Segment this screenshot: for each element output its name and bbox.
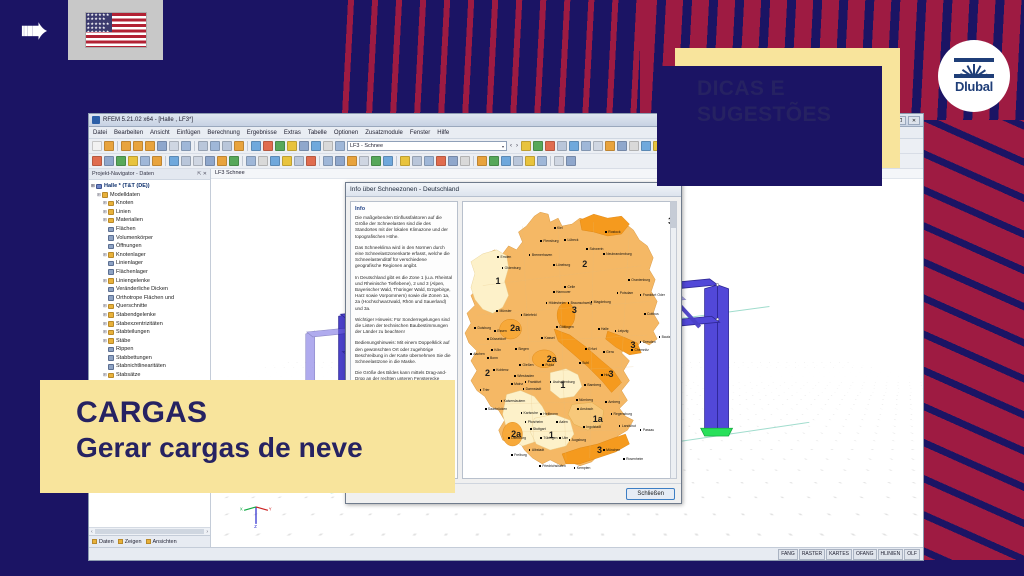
dialog-title-bar: Info über Schneezonen - Deutschland	[346, 183, 681, 197]
toolbar-icon-5[interactable]	[145, 141, 155, 151]
toolbar-icon-10[interactable]	[210, 141, 220, 151]
toolbar-icon-b2[interactable]	[533, 141, 543, 151]
map-city-label[interactable]: Hannover	[556, 290, 571, 294]
arrow-down-right-badge: ➠	[0, 0, 68, 60]
toolbar2-icon-29[interactable]	[448, 156, 458, 166]
toolbar2-icon-13[interactable]	[246, 156, 256, 166]
navigator-item[interactable]: ⊞Stabendgelenke	[91, 311, 210, 320]
map-city-label[interactable]: Bamberg	[587, 383, 601, 387]
navigator-item[interactable]: ⊞Materialien	[91, 216, 210, 225]
toolbar2-icon-36[interactable]	[537, 156, 547, 166]
toolbar2-icon-30[interactable]	[460, 156, 470, 166]
map-city-label[interactable]: Cottbus	[647, 312, 659, 316]
map-city-label[interactable]: Düsseldorf	[490, 337, 506, 341]
menu-item-einfgen[interactable]: Einfügen	[177, 130, 201, 136]
status-toggle-kartes[interactable]: KARTES	[826, 549, 852, 560]
toolbar-separator	[247, 141, 248, 151]
toolbar2-icon-35[interactable]	[525, 156, 535, 166]
map-city-label[interactable]: Erfurt	[588, 347, 596, 351]
dialog-title-text: Info über Schneezonen - Deutschland	[350, 186, 459, 193]
menu-item-datei[interactable]: Datei	[93, 130, 107, 136]
navigator-item[interactable]: Stabnichtlinearitäten	[91, 362, 210, 371]
status-toggle-raster[interactable]: RASTER	[799, 549, 825, 560]
toolbar-icon-b8[interactable]	[605, 141, 615, 151]
map-city-label[interactable]: Lüneburg	[556, 263, 570, 267]
toolbar-icon-12[interactable]	[234, 141, 244, 151]
map-city-label[interactable]: Neubrandenburg	[606, 252, 631, 256]
status-toggle-ofang[interactable]: OFANG	[853, 549, 877, 560]
toolbar-separator	[165, 156, 166, 166]
map-city-label[interactable]: Magdeburg	[594, 300, 611, 304]
toolbar-icon-b10[interactable]	[629, 141, 639, 151]
map-city-label[interactable]: Bremerhaven	[532, 253, 552, 257]
tree-node-icon	[108, 304, 114, 310]
map-city-label[interactable]: Oranienburg	[631, 278, 650, 282]
navigator-item-label: Materialien	[116, 216, 143, 225]
tab-icon	[92, 539, 97, 544]
tree-node-icon	[108, 278, 114, 284]
toolbar-separator	[319, 156, 320, 166]
navigator-item[interactable]: ⊞Stabteilungen	[91, 328, 210, 337]
toolbar2-icon-7[interactable]	[169, 156, 179, 166]
toolbar2-icon-9[interactable]	[193, 156, 203, 166]
toolbar2-icon-23[interactable]	[371, 156, 381, 166]
toolbar-icon-b11[interactable]	[641, 141, 651, 151]
navigator-tab-ansichten[interactable]: Ansichten	[146, 539, 177, 545]
navigator-tab-label: Ansichten	[153, 539, 177, 545]
toolbar-icon-16[interactable]	[287, 141, 297, 151]
info-paragraph: Bedienungshinweis: Mit einem Doppelklick…	[355, 340, 453, 365]
toolbar-icon-18[interactable]	[311, 141, 321, 151]
toolbar-icon-11[interactable]	[222, 141, 232, 151]
navigator-item[interactable]: ⊞Linien	[91, 208, 210, 217]
map-city-label[interactable]: Ansbach	[580, 407, 593, 411]
map-city-label[interactable]: Celle	[567, 285, 575, 289]
navigator-tab-zeigen[interactable]: Zeigen	[118, 539, 142, 545]
map-city-label[interactable]: Hildesheim	[549, 301, 566, 305]
map-city-label[interactable]: Rosenheim	[626, 457, 643, 461]
map-city-label[interactable]: Pforzheim	[528, 420, 543, 424]
navigator-item-label: Querschnitte	[116, 302, 147, 311]
map-city-label[interactable]: Friedrichshafen	[542, 464, 565, 468]
tree-node-icon	[108, 355, 114, 361]
callout-tips-line1: DICAS E	[697, 76, 900, 102]
tree-node-icon	[108, 364, 114, 370]
tree-node-icon	[108, 209, 114, 215]
navigator-title: Projekt-Navigator - Daten	[92, 171, 154, 177]
map-zone-label[interactable]: 3	[630, 340, 635, 350]
load-case-value: LF3 - Schnee	[350, 142, 383, 151]
map-city-label[interactable]: Bielefeld	[524, 313, 537, 317]
menu-item-fenster[interactable]: Fenster	[410, 130, 430, 136]
map-city-label[interactable]: Trier	[483, 388, 490, 392]
map-zone-label[interactable]: 1a	[593, 414, 603, 424]
toolbar-icon-15[interactable]	[275, 141, 285, 151]
toolbar-icon-b6[interactable]	[581, 141, 591, 151]
callout-tips: DICAS E SUGESTÕES	[675, 48, 900, 168]
tree-node-icon	[102, 192, 108, 198]
info-paragraph: Die maßgebenden Einflussfaktoren auf die…	[355, 215, 453, 240]
toolbar2-icon-33[interactable]	[501, 156, 511, 166]
map-city-label[interactable]: Kassel	[544, 336, 554, 340]
svg-text:X: X	[240, 506, 243, 511]
navigator-item-label: Orthotrope Flächen und	[116, 294, 174, 303]
navigator-item-label: Stäbe	[116, 337, 130, 346]
menu-item-ansicht[interactable]: Ansicht	[150, 130, 170, 136]
navigator-tab-daten[interactable]: Daten	[92, 539, 114, 545]
toolbar2-icon-28[interactable]	[436, 156, 446, 166]
navigator-item[interactable]: Flächen	[91, 225, 210, 234]
toolbar2-icon-11[interactable]	[217, 156, 227, 166]
callout-loads: CARGAS Gerar cargas de neve	[40, 380, 455, 493]
toolbar2-icon-15[interactable]	[270, 156, 280, 166]
tab-icon	[118, 539, 123, 544]
navigator-item-label: Linien	[116, 208, 131, 217]
status-toggle-group[interactable]: FANGRASTERKARTESOFANGHLINIENOLF	[778, 549, 920, 560]
toolbar-icon-17[interactable]	[299, 141, 309, 151]
close-button[interactable]: ✕	[908, 116, 920, 125]
map-zone-label[interactable]: 2a	[547, 354, 557, 364]
tree-node-icon	[108, 373, 114, 379]
navigator-header: Projekt-Navigator - Daten ⇱ ✕	[89, 169, 210, 180]
map-city-label[interactable]: Aachen	[473, 352, 485, 356]
map-city-label[interactable]: Dresden	[643, 340, 656, 344]
navigator-item[interactable]: ⊞Knoten	[91, 199, 210, 208]
navigator-item[interactable]: ⊞Stabexzentrizitäten	[91, 320, 210, 329]
map-city-label[interactable]: Freiburg	[514, 453, 527, 457]
language-flag-badge: ★★★★★★★★★★★★★★★★★★★★★★★★★★★★	[68, 0, 163, 60]
map-zone-label[interactable]: 1	[495, 276, 500, 286]
toolbar2-icon-32[interactable]	[489, 156, 499, 166]
map-city-label[interactable]: Wiesbaden	[517, 374, 534, 378]
navigator-item-label: Stabexzentrizitäten	[116, 320, 163, 329]
germany-snow-zone-map[interactable]: KielLübeckRostockFlensburgSchwerinNeubra…	[462, 201, 677, 479]
navigator-item[interactable]: ⊞Liniengelenke	[91, 277, 210, 286]
toolbar-icon-b3[interactable]	[545, 141, 555, 151]
coordinate-axis-indicator: Z X Y	[239, 495, 273, 529]
map-city-label[interactable]: Münster	[499, 309, 511, 313]
slide-canvas: ➠ ★★★★★★★★★★★★★★★★★★★★★★★★★★★★ Dlubal RF…	[0, 0, 1024, 576]
menu-item-hilfe[interactable]: Hilfe	[437, 130, 449, 136]
navigator-item-label: Stabsätze	[116, 371, 140, 380]
toolbar-icon-b5[interactable]	[569, 141, 579, 151]
navigator-item-label: Flächen	[116, 225, 136, 234]
map-city-label[interactable]: Karlsruhe	[524, 411, 539, 415]
map-city-label[interactable]: Köln	[494, 348, 501, 352]
map-city-label[interactable]: Darmstadt	[526, 387, 542, 391]
toolbar2-icon-5[interactable]	[140, 156, 150, 166]
navigator-item-label: Stabbettungen	[116, 354, 152, 363]
map-city-label[interactable]: Chemnitz	[634, 348, 648, 352]
menu-item-extras[interactable]: Extras	[284, 130, 301, 136]
map-city-label[interactable]: Heilbronn	[543, 412, 558, 416]
toolbar2-icon-27[interactable]	[424, 156, 434, 166]
toolbar2-icon-4[interactable]	[128, 156, 138, 166]
flag-stars: ★★★★★★★★★★★★★★★★★★★★★★★★★★★★	[86, 13, 112, 32]
prev-loadcase-icon[interactable]: ‹	[509, 143, 513, 149]
map-city-label[interactable]: Bonn	[490, 356, 498, 360]
tree-node-icon	[108, 269, 114, 275]
navigator-item[interactable]: Veränderliche Dicken	[91, 285, 210, 294]
map-zone-label[interactable]: 3	[597, 445, 602, 455]
map-city-label[interactable]: München	[606, 448, 620, 452]
map-city-label[interactable]: Göttingen	[559, 325, 574, 329]
map-zone-label[interactable]: 2	[485, 368, 490, 378]
toolbar2-icon-3[interactable]	[116, 156, 126, 166]
tree-node-icon	[108, 261, 114, 267]
navigator-item-label: Volumenkörper	[116, 234, 153, 243]
map-zone-label[interactable]: 3	[572, 305, 577, 315]
toolbar2-icon-1[interactable]	[92, 156, 102, 166]
toolbar2-icon-2[interactable]	[104, 156, 114, 166]
load-case-combobox[interactable]: LF3 - Schnee▾	[347, 141, 507, 151]
navigator-item[interactable]: ⊞Halle * (T&T (DE))	[91, 182, 210, 191]
dlubal-logo-text: Dlubal	[955, 79, 993, 94]
navigator-item-label: Linienlager	[116, 259, 143, 268]
tree-node-icon	[108, 321, 114, 327]
navigator-item[interactable]: ⊞Knotenlager	[91, 251, 210, 260]
tree-node-icon	[108, 201, 114, 207]
map-city-label[interactable]: Passau	[643, 428, 654, 432]
navigator-item[interactable]: Stabbettungen	[91, 354, 210, 363]
callout-tips-line2: SUGESTÕES	[697, 102, 900, 128]
toolbar2-icon-17[interactable]	[294, 156, 304, 166]
toolbar-icon-14[interactable]	[263, 141, 273, 151]
toolbar-icon-9[interactable]	[198, 141, 208, 151]
map-city-label[interactable]: Halle	[601, 327, 609, 331]
map-city-label[interactable]: Koblenz	[496, 368, 508, 372]
navigator-item[interactable]: Orthotrope Flächen und	[91, 294, 210, 303]
dialog-scrollbar[interactable]	[670, 201, 677, 479]
navigator-item[interactable]: Flächenlager	[91, 268, 210, 277]
dlubal-truss-logo-icon	[954, 58, 994, 78]
toolbar-icon-1[interactable]	[92, 141, 102, 151]
toolbar2-icon-26[interactable]	[412, 156, 422, 166]
map-city-label[interactable]: Rostock	[608, 230, 620, 234]
map-city-label[interactable]: Siegen	[518, 347, 529, 351]
navigator-item-label: Rippen	[116, 345, 133, 354]
navigator-item-label: Knoten	[116, 199, 133, 208]
map-city-label[interactable]: Suhl	[582, 361, 589, 365]
tree-node-icon	[108, 235, 114, 241]
map-city-label[interactable]: Nürnberg	[579, 398, 593, 402]
toolbar2-icon-14[interactable]	[258, 156, 268, 166]
toolbar-icon-b4[interactable]	[557, 141, 567, 151]
map-city-label[interactable]: Mainz	[514, 382, 523, 386]
map-zone-label[interactable]: 1	[560, 380, 565, 390]
scroll-left-icon[interactable]: ‹	[91, 529, 93, 535]
arrow-down-right-icon: ➠	[21, 14, 48, 46]
toolbar-separator	[396, 156, 397, 166]
map-city-label[interactable]: Gießen	[522, 363, 533, 367]
map-city-label[interactable]: Potsdam	[620, 291, 633, 295]
map-city-label[interactable]: Lübeck	[567, 238, 578, 242]
scroll-thumb[interactable]	[95, 529, 205, 534]
toolbar2-icon-34[interactable]	[513, 156, 523, 166]
toolbar-icon-2[interactable]	[104, 141, 114, 151]
tree-node-icon	[108, 330, 114, 336]
navigator-horizontal-scrollbar[interactable]: ‹ ›	[89, 527, 210, 535]
menu-item-ergebnisse[interactable]: Ergebnisse	[247, 130, 277, 136]
tree-node-icon	[108, 244, 114, 250]
toolbar2-icon-21[interactable]	[347, 156, 357, 166]
toolbar-icon-13[interactable]	[251, 141, 261, 151]
toolbar2-icon-8[interactable]	[181, 156, 191, 166]
toolbar2-icon-38[interactable]	[566, 156, 576, 166]
map-city-label[interactable]: Gera	[606, 350, 614, 354]
navigator-item[interactable]: Rippen	[91, 345, 210, 354]
map-city-label[interactable]: Saarbrücken	[488, 407, 507, 411]
toolbar2-icon-20[interactable]	[335, 156, 345, 166]
toolbar2-icon-18[interactable]	[306, 156, 316, 166]
tree-node-icon	[108, 227, 114, 233]
toolbar-icon-7[interactable]	[169, 141, 179, 151]
toolbar-separator	[550, 156, 551, 166]
map-city-label[interactable]: Oldenburg	[505, 266, 521, 270]
map-city-label[interactable]: Frankfurt Oder	[643, 293, 665, 297]
map-city-label[interactable]: Essen	[497, 329, 506, 333]
map-city-label[interactable]: Stuttgart	[533, 427, 546, 431]
navigator-item[interactable]: ⊞Stabsätze	[91, 371, 210, 380]
toolbar2-icon-22[interactable]	[359, 156, 369, 166]
toolbar2-icon-31[interactable]	[477, 156, 487, 166]
us-flag-icon: ★★★★★★★★★★★★★★★★★★★★★★★★★★★★	[85, 12, 147, 48]
toolbar-icon-b1[interactable]	[521, 141, 531, 151]
toolbar-icon-20[interactable]	[335, 141, 345, 151]
menu-item-zusatzmodule[interactable]: Zusatzmodule	[365, 130, 403, 136]
navigator-item[interactable]: ⊞Stäbe	[91, 337, 210, 346]
toolbar-icon-3[interactable]	[121, 141, 131, 151]
dialog-scroll-thumb[interactable]	[671, 202, 676, 228]
map-city-label[interactable]: Kempten	[577, 466, 591, 470]
callout-loads-subtitle: Gerar cargas de neve	[76, 431, 455, 465]
navigator-item-label: Stabteilungen	[116, 328, 150, 337]
toolbar-icon-b7[interactable]	[593, 141, 603, 151]
map-city-label[interactable]: Frankfurt	[528, 380, 542, 384]
toolbar2-icon-24[interactable]	[383, 156, 393, 166]
toolbar2-icon-37[interactable]	[554, 156, 564, 166]
pin-icon[interactable]: ⇱ ✕	[197, 171, 207, 177]
navigator-tab-label: Daten	[99, 539, 114, 545]
navigator-item-label: Knotenlager	[116, 251, 146, 260]
status-toggle-olf[interactable]: OLF	[904, 549, 920, 560]
background-navy-bottom-strip	[0, 560, 1024, 576]
tree-node-icon	[108, 338, 114, 344]
toolbar-icon-b9[interactable]	[617, 141, 627, 151]
chevron-down-icon[interactable]: ▾	[502, 142, 504, 151]
toolbar2-icon-19[interactable]	[323, 156, 333, 166]
toolbar-separator	[117, 141, 118, 151]
tree-node-icon	[108, 252, 114, 258]
info-heading: Info	[355, 206, 453, 212]
tree-node-icon	[96, 184, 102, 190]
navigator-item[interactable]: Volumenkörper	[91, 234, 210, 243]
navigator-item[interactable]: Öffnungen	[91, 242, 210, 251]
menu-item-bearbeiten[interactable]: Bearbeiten	[114, 130, 143, 136]
navigator-item[interactable]: ⊞Modelldaten	[91, 191, 210, 200]
toolbar-icon-4[interactable]	[133, 141, 143, 151]
map-city-label[interactable]: Ingolstadt	[586, 425, 601, 429]
menu-item-tabelle[interactable]: Tabelle	[308, 130, 327, 136]
map-zone-label[interactable]: 1	[549, 430, 554, 440]
dlubal-logo: Dlubal	[938, 40, 1010, 112]
map-zone-label[interactable]: 2	[582, 259, 587, 269]
map-city-label[interactable]: Regensburg	[614, 412, 632, 416]
navigator-item-label: Veränderliche Dicken	[116, 285, 168, 294]
map-city-label[interactable]: Kiel	[557, 226, 563, 230]
info-paragraph: In Deutschland gibt es die Zone 1 (u.a. …	[355, 275, 453, 312]
toolbar2-icon-25[interactable]	[400, 156, 410, 166]
map-city-label[interactable]: Flensburg	[543, 239, 558, 243]
map-zone-label[interactable]: 3	[608, 369, 613, 379]
menu-item-berechnung[interactable]: Berechnung	[207, 130, 239, 136]
navigator-tab-label: Zeigen	[125, 539, 142, 545]
navigator-item-label: Liniengelenke	[116, 277, 150, 286]
menu-item-optionen[interactable]: Optionen	[334, 130, 358, 136]
toolbar-separator	[194, 141, 195, 151]
info-paragraph: Das Schneeklima wird in den Normen durch…	[355, 245, 453, 270]
rfem-app-icon	[92, 116, 100, 124]
map-city-label[interactable]: Aalen	[559, 420, 568, 424]
navigator-item-label: Flächenlager	[116, 268, 148, 277]
map-city-label[interactable]: Duisburg	[477, 326, 491, 330]
navigator-item-label: Stabnichtlinearitäten	[116, 362, 166, 371]
map-city-label[interactable]: Landshut	[622, 424, 636, 428]
svg-text:Y: Y	[269, 506, 272, 511]
tree-node-icon	[108, 347, 114, 353]
rfem-status-bar: FANGRASTERKARTESOFANGHLINIENOLF	[89, 547, 923, 560]
tree-node-icon	[108, 295, 114, 301]
close-dialog-button[interactable]: Schließen	[626, 488, 675, 500]
map-zone-label[interactable]: 2a	[510, 323, 520, 333]
next-loadcase-icon[interactable]: ›	[515, 143, 519, 149]
tree-node-icon	[108, 218, 114, 224]
svg-text:Z: Z	[254, 524, 257, 529]
toolbar-separator	[473, 156, 474, 166]
navigator-item-label: Stabendgelenke	[116, 311, 156, 320]
info-paragraph: Wichtiger Hinweis: Für Sonderregelungen …	[355, 317, 453, 336]
toolbar2-icon-16[interactable]	[282, 156, 292, 166]
status-toggle-fang[interactable]: FANG	[778, 549, 798, 560]
toolbar-separator	[242, 156, 243, 166]
map-city-label[interactable]: Augsburg	[572, 438, 587, 442]
navigator-item-label: Halle * (T&T (DE))	[104, 182, 150, 191]
navigator-item-label: Modelldaten	[110, 191, 140, 200]
map-city-label[interactable]: Kaiserslautern	[504, 399, 526, 403]
toolbar2-icon-12[interactable]	[229, 156, 239, 166]
map-city-label[interactable]: Emden	[500, 255, 511, 259]
navigator-item[interactable]: Linienlager	[91, 259, 210, 268]
map-city-label[interactable]: Albstadt	[532, 448, 544, 452]
toolbar2-icon-10[interactable]	[205, 156, 215, 166]
map-city-label[interactable]: Leipzig	[618, 329, 629, 333]
toolbar-icon-8[interactable]	[181, 141, 191, 151]
map-city-label[interactable]: Ulm	[562, 436, 568, 440]
callout-loads-title: CARGAS	[76, 396, 455, 431]
toolbar2-icon-6[interactable]	[152, 156, 162, 166]
toolbar-icon-19[interactable]	[323, 141, 333, 151]
toolbar-icon-6[interactable]	[157, 141, 167, 151]
scroll-right-icon[interactable]: ›	[206, 529, 208, 535]
navigator-tabs[interactable]: DatenZeigenAnsichten	[89, 535, 210, 547]
map-zone-label[interactable]: 2a	[511, 429, 521, 439]
tree-node-icon	[108, 287, 114, 293]
navigator-item[interactable]: ⊞Querschnitte	[91, 302, 210, 311]
status-toggle-hlinien[interactable]: HLINIEN	[878, 549, 904, 560]
map-city-label[interactable]: Amberg	[608, 400, 620, 404]
map-city-label[interactable]: Schwerin	[589, 247, 603, 251]
tab-icon	[146, 539, 151, 544]
